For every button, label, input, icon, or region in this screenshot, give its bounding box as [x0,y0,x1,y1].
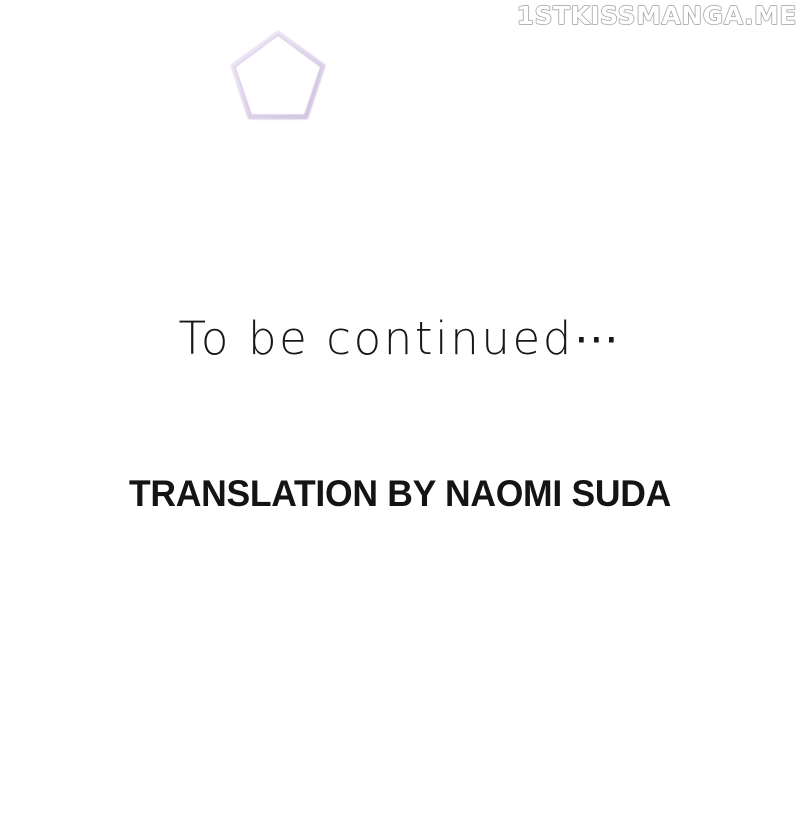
to-be-continued-text: To be continued⋯ [0,313,800,365]
translation-credit-text: TRANSLATION BY NAOMI SUDA [16,472,784,516]
site-watermark: 1STKISSMANGA.ME [511,0,797,30]
pentagon-outline-icon [228,28,328,122]
manga-page-canvas: 1STKISSMANGA.ME [0,0,800,833]
